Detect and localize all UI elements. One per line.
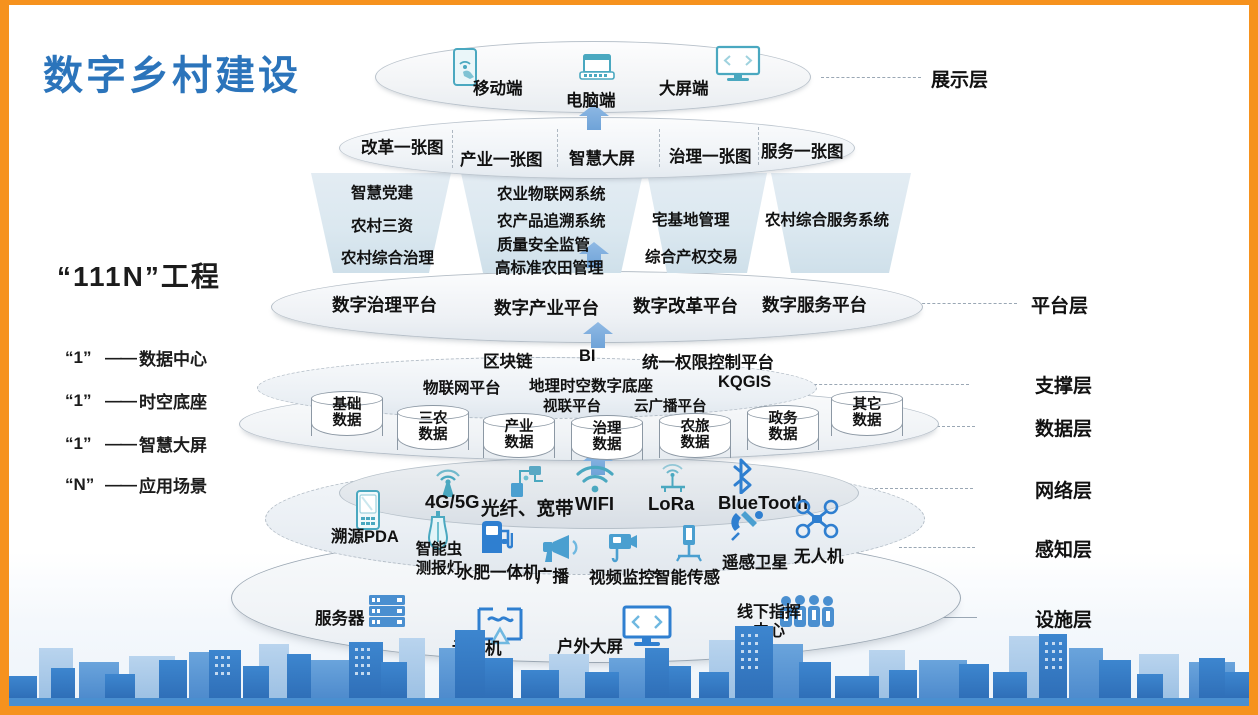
onepicture-item-1: 改革一张图 xyxy=(361,134,444,158)
onepicture-item-5: 服务一张图 xyxy=(761,138,844,162)
page-title: 数字乡村建设 xyxy=(43,43,301,101)
perception-label-sensor: 智能传感 xyxy=(654,564,720,588)
application-item-1-2: 农村三资 xyxy=(351,214,413,236)
layer-label-platform: 平台层 xyxy=(1031,291,1088,318)
application-item-3-1: 宅基地管理 xyxy=(652,208,730,230)
band-divider-3 xyxy=(659,129,660,167)
legend-key: “1” xyxy=(65,348,101,368)
legend-key: “N” xyxy=(65,475,101,495)
data-cylinder-label-7: 其它 数据 xyxy=(831,397,903,429)
data-cylinder-label-3: 产业 数据 xyxy=(483,419,555,451)
drone-icon xyxy=(795,499,839,539)
perception-label-fertigation: 水肥一体机 xyxy=(457,559,540,583)
legend-value: 应用场景 xyxy=(139,472,207,497)
data-label-line2: 数据 xyxy=(483,435,555,451)
data-cylinder-label-5: 农旅 数据 xyxy=(659,419,731,451)
data-cylinder-label-6: 政务 数据 xyxy=(747,411,819,443)
perception-label-broadcast: 广播 xyxy=(536,563,569,587)
data-label-line1: 基础 xyxy=(311,397,383,413)
legend-dash: —— xyxy=(105,348,135,368)
legend-row-1: “1” —— 数据中心 xyxy=(65,345,207,370)
data-label-line1: 治理 xyxy=(571,421,643,437)
onepicture-item-2: 产业一张图 xyxy=(460,146,543,170)
perception-label-pda: 溯源PDA xyxy=(331,523,399,547)
perception-label-satellite: 遥感卫星 xyxy=(722,549,788,573)
data-label-line2: 数据 xyxy=(397,427,469,443)
legend-key: “1” xyxy=(65,434,101,454)
satellite-icon xyxy=(727,505,767,543)
perception-label-drone: 无人机 xyxy=(794,543,844,567)
application-item-1-3: 农村综合治理 xyxy=(341,246,434,268)
data-cylinder-label-1: 基础 数据 xyxy=(311,397,383,429)
network-label-wifi: WIFI xyxy=(575,493,614,515)
platform-item-4: 数字服务平台 xyxy=(762,292,867,317)
platform-item-2: 数字产业平台 xyxy=(494,295,599,320)
support-item-bi: BI xyxy=(579,347,596,366)
support-item-kqgis: KQGIS xyxy=(718,373,771,392)
city-skyline-decoration xyxy=(9,614,1249,706)
terminal-label-bigscreen: 大屏端 xyxy=(659,75,709,99)
data-label-line1: 农旅 xyxy=(659,419,731,435)
application-item-2-2: 农产品追溯系统 xyxy=(497,209,606,231)
band-divider-4 xyxy=(758,127,759,165)
legend-key: “1” xyxy=(65,391,101,411)
fertigation-machine-icon xyxy=(479,519,513,557)
legend-row-3: “1” —— 智慧大屏 xyxy=(65,431,207,456)
platform-item-1: 数字治理平台 xyxy=(332,292,437,317)
perception-label-line1: 智能虫 xyxy=(397,541,481,560)
leader-line-platform xyxy=(917,303,1017,304)
legend-dash: —— xyxy=(105,391,135,411)
platform-item-3: 数字改革平台 xyxy=(633,293,738,318)
application-item-2-4: 高标准农田管理 xyxy=(495,256,604,278)
layer-label-data: 数据层 xyxy=(1035,414,1092,441)
data-label-line2: 数据 xyxy=(311,413,383,429)
legend-value: 智慧大屏 xyxy=(139,431,207,456)
leader-line-perception xyxy=(899,547,975,548)
network-label-lora: LoRa xyxy=(648,493,694,515)
lora-antenna-icon xyxy=(657,463,693,495)
data-label-line1: 政务 xyxy=(747,411,819,427)
legend-value: 数据中心 xyxy=(139,345,207,370)
data-label-line2: 数据 xyxy=(659,435,731,451)
legend-value: 时空底座 xyxy=(139,388,207,413)
support-item-iot-platform: 物联网平台 xyxy=(423,376,501,398)
leader-line-presentation xyxy=(821,77,921,78)
data-label-line2: 数据 xyxy=(571,437,643,453)
bluetooth-icon xyxy=(731,458,759,494)
leader-line-support xyxy=(809,384,969,385)
network-label-fiber: 光纤、宽带 xyxy=(481,495,574,521)
wifi-icon xyxy=(575,465,615,495)
data-cylinder-label-2: 三农 数据 xyxy=(397,411,469,443)
onepicture-item-4: 治理一张图 xyxy=(669,143,752,167)
leader-line-network xyxy=(865,488,973,489)
application-item-3-2: 综合产权交易 xyxy=(645,245,738,267)
layer-label-network: 网络层 xyxy=(1035,476,1092,503)
loudspeaker-icon xyxy=(539,532,581,564)
support-item-blockchain: 区块链 xyxy=(483,348,533,372)
onepicture-item-3: 智慧大屏 xyxy=(569,145,635,169)
diagram-canvas: 数字乡村建设 “111N”工程 “1” —— 数据中心 “1” —— 时空底座 … xyxy=(0,0,1258,715)
application-item-4-1: 农村综合服务系统 xyxy=(765,208,889,230)
legend-row-2: “1” —— 时空底座 xyxy=(65,388,207,413)
application-item-2-3: 质量安全监管 xyxy=(497,233,590,255)
laptop-icon xyxy=(579,53,615,83)
application-item-2-1: 农业物联网系统 xyxy=(497,182,606,204)
cctv-camera-icon xyxy=(604,530,638,566)
data-label-line2: 数据 xyxy=(831,413,903,429)
data-label-line1: 三农 xyxy=(397,411,469,427)
fiber-network-icon xyxy=(507,465,545,499)
band-divider-1 xyxy=(452,130,453,168)
layer-label-support: 支撑层 xyxy=(1035,371,1092,398)
legend-dash: —— xyxy=(105,475,135,495)
smart-sensor-icon xyxy=(674,523,704,563)
terminal-label-mobile: 移动端 xyxy=(473,75,523,99)
layer-label-perception: 感知层 xyxy=(1035,535,1092,562)
support-item-geo-base: 地理时空数字底座 xyxy=(529,374,653,396)
data-label-line1: 产业 xyxy=(483,419,555,435)
legend-row-4: “N” —— 应用场景 xyxy=(65,472,207,497)
layer-label-presentation: 展示层 xyxy=(931,65,988,92)
data-label-line2: 数据 xyxy=(747,427,819,443)
legend-dash: —— xyxy=(105,434,135,454)
arrow-support-to-platform xyxy=(581,321,615,349)
perception-label-video: 视频监控 xyxy=(589,564,655,588)
monitor-icon xyxy=(715,45,761,83)
application-item-1-1: 智慧党建 xyxy=(351,181,413,203)
data-cylinder-label-4: 治理 数据 xyxy=(571,421,643,453)
band-divider-2 xyxy=(557,129,558,167)
data-label-line1: 其它 xyxy=(831,397,903,413)
legend-heading: “111N”工程 xyxy=(57,255,221,295)
terminal-label-computer: 电脑端 xyxy=(566,87,616,111)
support-item-auth-platform: 统一权限控制平台 xyxy=(642,349,774,373)
